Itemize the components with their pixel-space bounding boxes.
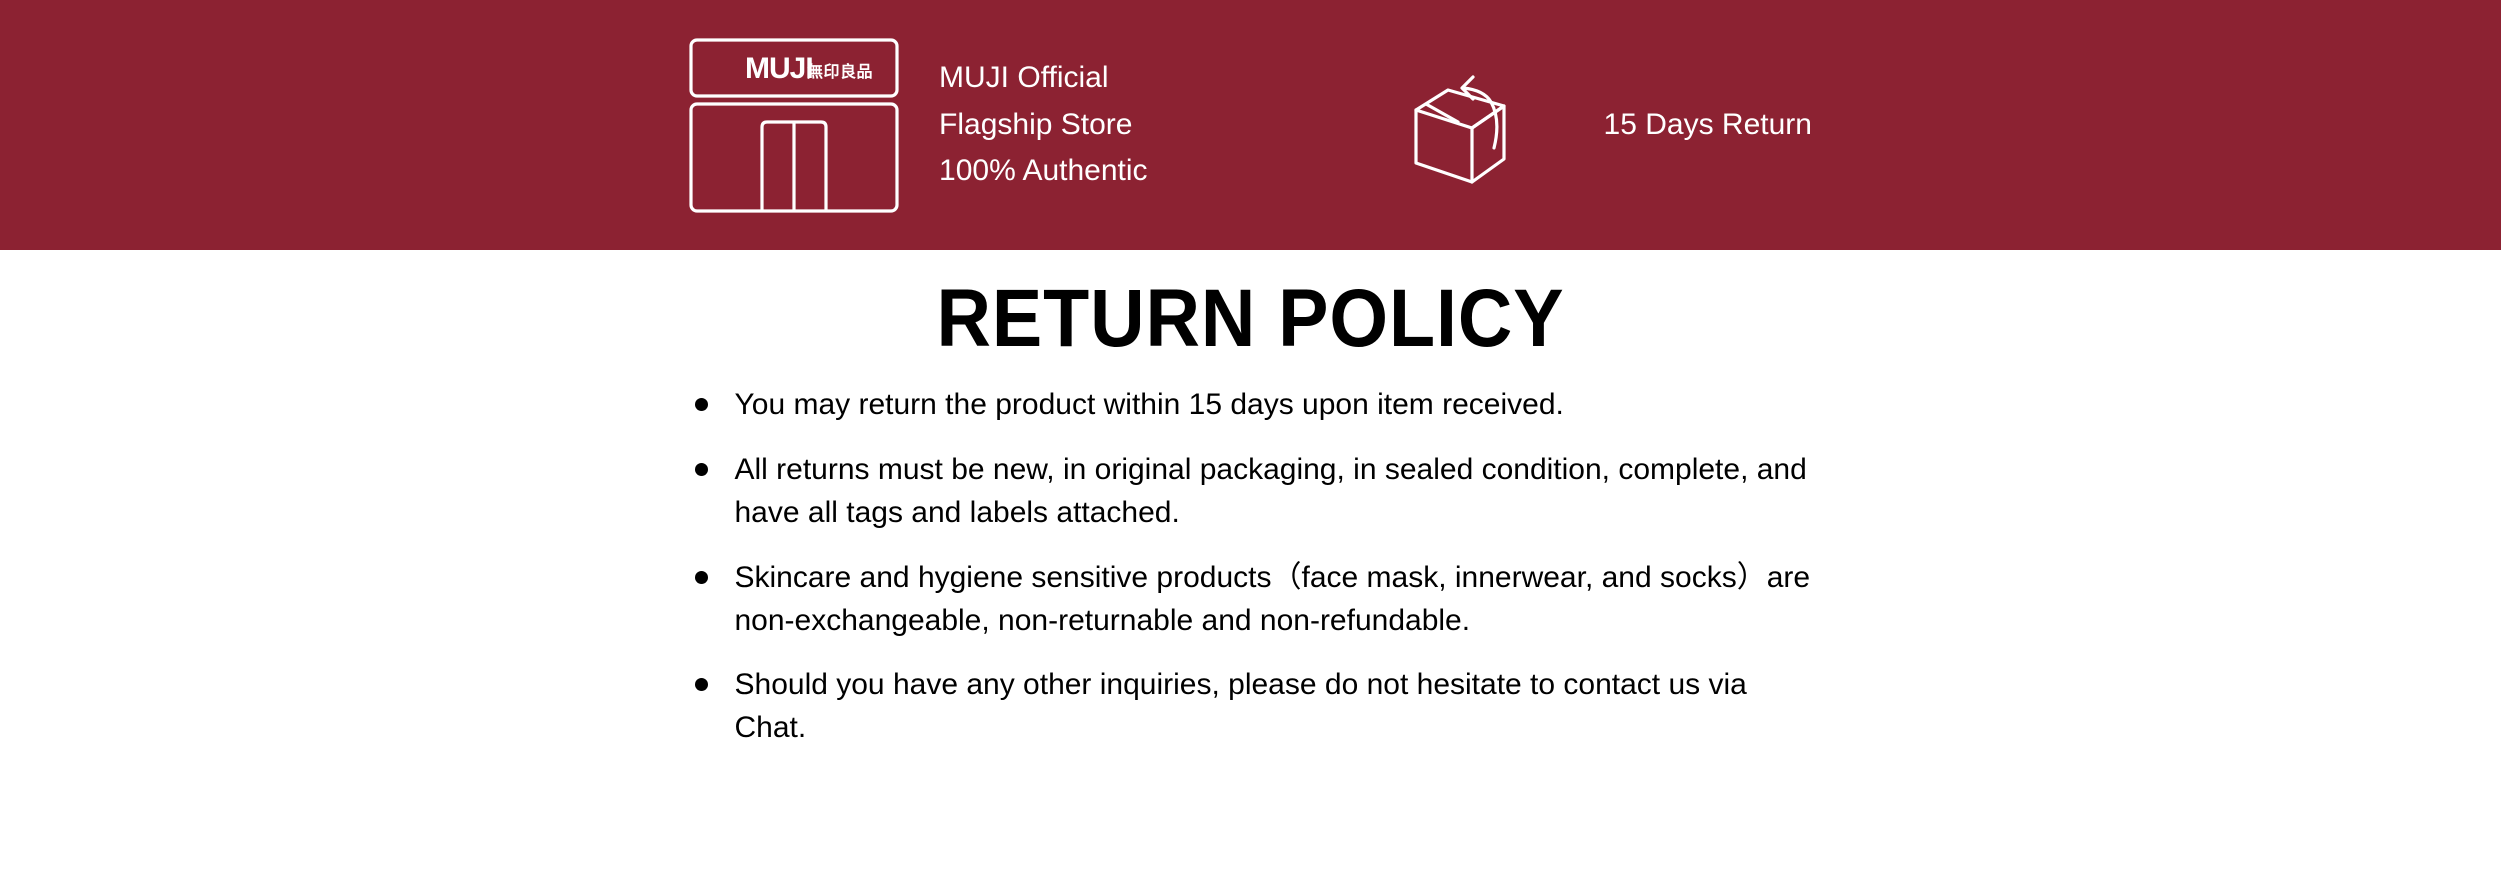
return-box-icon xyxy=(1408,64,1530,186)
return-policy-list: You may return the product within 15 day… xyxy=(681,384,1821,750)
policy-text: All returns must be new, in original pac… xyxy=(735,453,1807,529)
store-badge-line-3: 100% Authentic xyxy=(939,148,1148,195)
policy-text: Skincare and hygiene sensitive products（… xyxy=(735,561,1811,637)
return-days-badge: 15 Days Return xyxy=(1408,64,1812,186)
page-title: RETURN POLICY xyxy=(100,272,2401,366)
policy-text: Should you have any other inquiries, ple… xyxy=(735,668,1747,744)
policy-text: You may return the product within 15 day… xyxy=(735,388,1564,421)
policy-content: RETURN POLICY You may return the product… xyxy=(0,250,2501,750)
store-badge-line-1: MUJI Official xyxy=(939,55,1148,102)
store-badge-text: MUJI Official Flagship Store 100% Authen… xyxy=(939,55,1148,195)
bullet-icon xyxy=(695,463,708,476)
policy-item: Should you have any other inquiries, ple… xyxy=(681,664,1821,750)
store-authenticity-badge: MUJI 無印良品 MUJI Official Flagship Store 1… xyxy=(689,38,1148,213)
store-badge-line-2: Flagship Store xyxy=(939,102,1148,149)
policy-item: All returns must be new, in original pac… xyxy=(681,449,1821,535)
store-logo-latin: MUJI xyxy=(745,52,813,85)
bullet-icon xyxy=(695,398,708,411)
return-days-label: 15 Days Return xyxy=(1604,108,1812,142)
bullet-icon xyxy=(695,571,708,584)
promo-banner: MUJI 無印良品 MUJI Official Flagship Store 1… xyxy=(0,0,2501,250)
bullet-icon xyxy=(695,678,708,691)
store-logo-japanese: 無印良品 xyxy=(807,62,873,81)
policy-item: You may return the product within 15 day… xyxy=(681,384,1821,427)
policy-item: Skincare and hygiene sensitive products（… xyxy=(681,557,1821,643)
storefront-icon: MUJI 無印良品 xyxy=(689,38,899,213)
